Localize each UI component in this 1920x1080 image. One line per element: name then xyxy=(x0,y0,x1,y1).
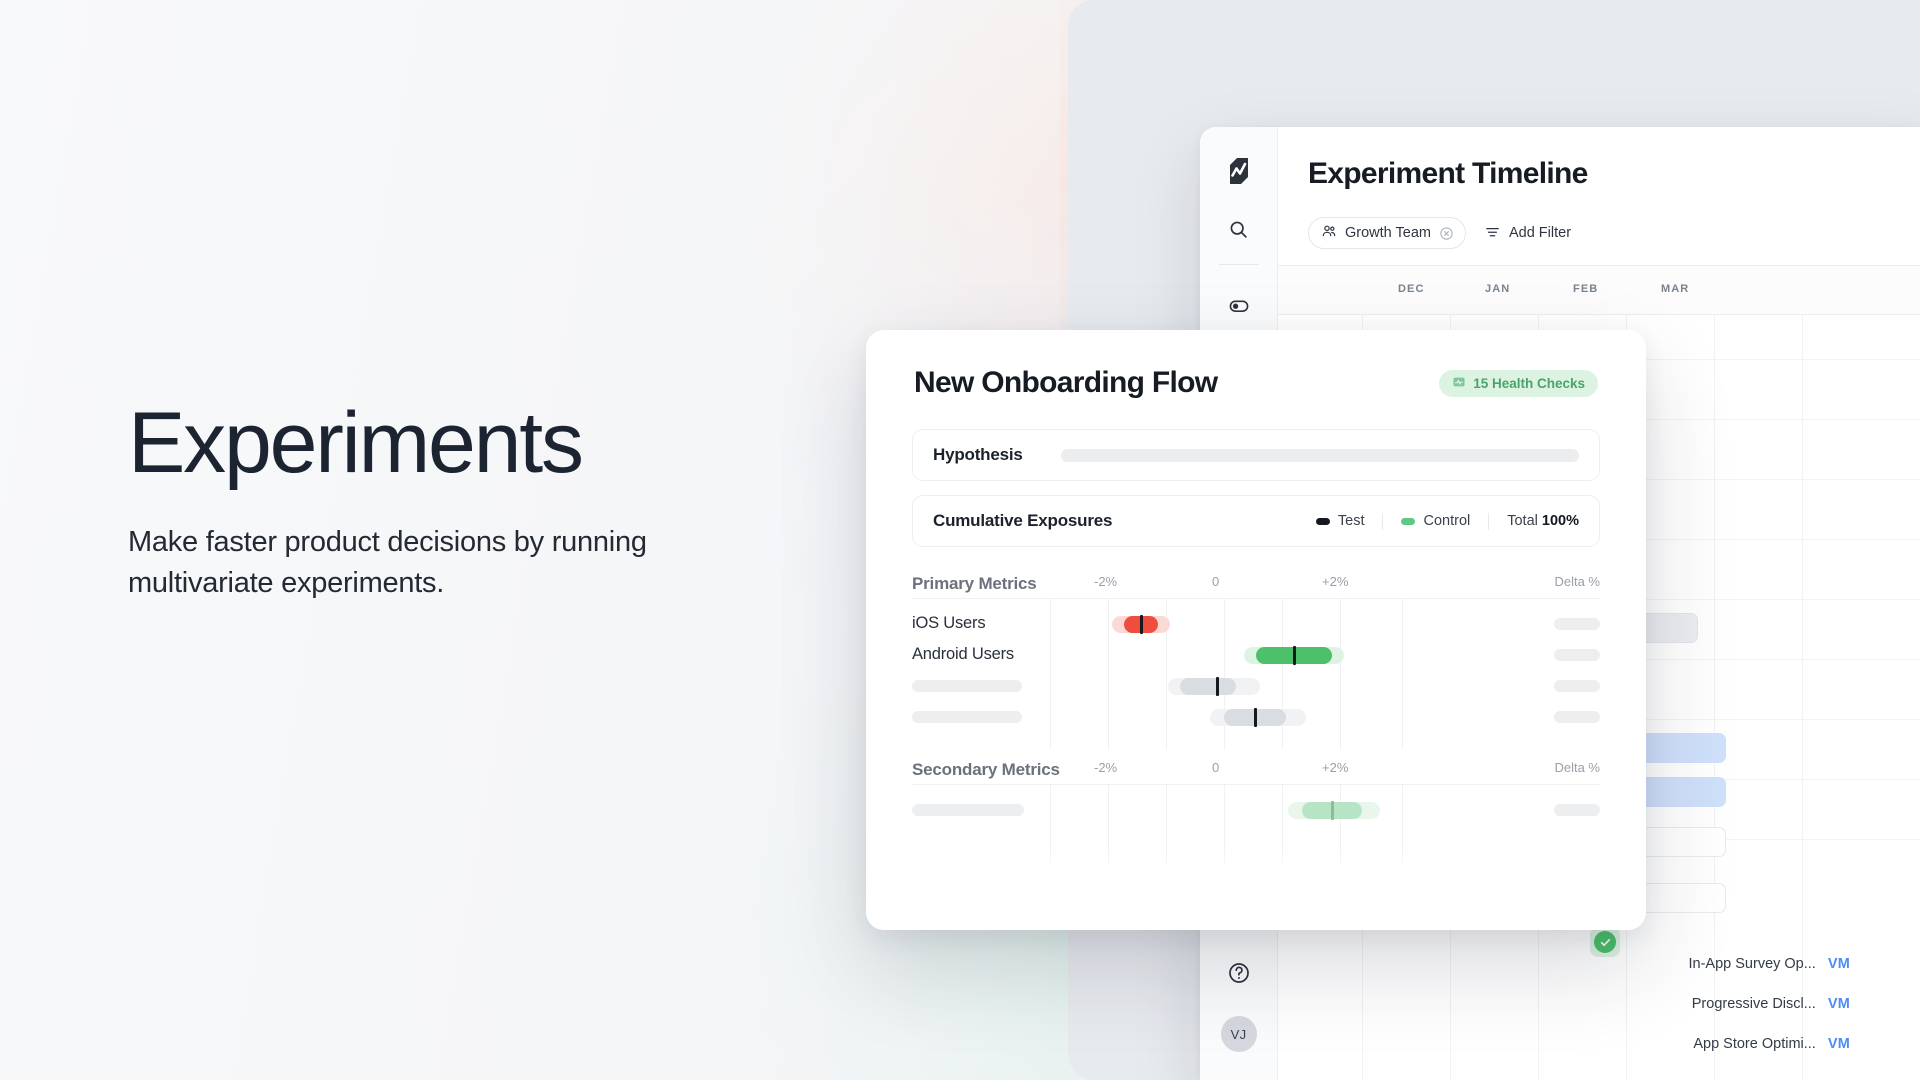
metric-ci-bar xyxy=(1302,802,1362,819)
metric-label-placeholder xyxy=(912,711,1022,723)
avatar: VM xyxy=(1828,1036,1850,1052)
metric-delta-placeholder xyxy=(1554,618,1600,630)
metric-point-tick xyxy=(1140,615,1143,634)
add-filter-label: Add Filter xyxy=(1509,225,1571,241)
check-circle-icon xyxy=(1594,931,1616,953)
timeline-month: JAN xyxy=(1485,283,1510,295)
timeline-bar[interactable] xyxy=(1590,927,1620,957)
sidebar-divider xyxy=(1219,264,1259,265)
close-circle-icon[interactable] xyxy=(1439,226,1454,241)
metric-delta-placeholder xyxy=(1554,649,1600,661)
avatar: VM xyxy=(1828,956,1850,972)
list-item[interactable]: In-App Survey Op... VM xyxy=(1640,944,1920,984)
avatar[interactable]: VJ xyxy=(1221,1016,1257,1052)
legend-label-control: Control xyxy=(1423,513,1470,529)
metric-ci-bar xyxy=(1180,678,1236,695)
legend-item-test: Test xyxy=(1298,513,1383,529)
secondary-metrics-title: Secondary Metrics xyxy=(912,760,1060,780)
filter-chip-label: Growth Team xyxy=(1345,225,1431,241)
list-item-label: In-App Survey Op... xyxy=(1689,956,1816,972)
list-item-label: Progressive Discl... xyxy=(1692,996,1816,1012)
metric-row[interactable] xyxy=(912,698,1600,736)
legend-label-test: Test xyxy=(1338,513,1365,529)
metric-point-tick xyxy=(1254,708,1257,727)
filter-bar: Growth Team Add Filter xyxy=(1308,217,1571,249)
exposures-label: Cumulative Exposures xyxy=(933,511,1112,531)
metric-delta-placeholder xyxy=(1554,711,1600,723)
add-filter-button[interactable]: Add Filter xyxy=(1484,223,1571,244)
list-item-label: App Store Optimi... xyxy=(1693,1036,1816,1052)
metric-delta-placeholder xyxy=(1554,804,1600,816)
exposures-total-value: 100% xyxy=(1542,513,1579,529)
avatar: VM xyxy=(1828,996,1850,1012)
primary-metrics-header: Primary Metrics -2% 0 +2% Delta % xyxy=(912,574,1600,594)
search-icon[interactable] xyxy=(1220,210,1258,248)
metric-point-tick xyxy=(1216,677,1219,696)
axis-tick-pos2: +2% xyxy=(1322,760,1348,775)
toggle-icon[interactable] xyxy=(1220,287,1258,325)
hypothesis-label: Hypothesis xyxy=(933,445,1023,465)
hypothesis-value-placeholder xyxy=(1061,449,1579,462)
timeline-month: MAR xyxy=(1661,283,1689,295)
timeline-month: DEC xyxy=(1398,283,1425,295)
secondary-metrics-header: Secondary Metrics -2% 0 +2% Delta % xyxy=(912,760,1600,780)
metric-label-placeholder xyxy=(912,680,1022,692)
timeline-month: FEB xyxy=(1573,283,1598,295)
metric-row[interactable] xyxy=(912,791,1600,829)
metric-ci-bar xyxy=(1124,616,1158,633)
card-header: New Onboarding Flow 15 Health Checks xyxy=(914,366,1598,400)
screenshot-root: Experiments Make faster product decision… xyxy=(0,0,1920,1080)
axis-tick-neg2: -2% xyxy=(1094,760,1117,775)
list-item[interactable]: App Store Optimi... VM xyxy=(1640,1024,1920,1064)
experiment-detail-card: New Onboarding Flow 15 Health Checks Hyp… xyxy=(866,330,1646,930)
secondary-metrics-plot xyxy=(912,784,1600,864)
legend-item-control: Control xyxy=(1383,513,1488,529)
filter-chip-growth-team[interactable]: Growth Team xyxy=(1308,217,1466,249)
legend-swatch-control xyxy=(1401,518,1415,525)
metric-label: iOS Users xyxy=(912,614,985,633)
exposures-legend: Test Control Total 100% xyxy=(1298,513,1579,530)
legend-swatch-test xyxy=(1316,518,1330,525)
metric-ci-bar xyxy=(1256,647,1332,664)
metric-point-tick xyxy=(1293,646,1296,665)
activity-logo-icon[interactable] xyxy=(1222,154,1256,188)
sidebar-bottom: VJ xyxy=(1220,932,1258,1052)
status-badge[interactable]: 15 Health Checks xyxy=(1439,370,1598,397)
axis-tick-neg2: -2% xyxy=(1094,574,1117,589)
card-title: New Onboarding Flow xyxy=(914,366,1217,400)
app-page-title: Experiment Timeline xyxy=(1308,157,1588,191)
metric-point-tick xyxy=(1331,801,1334,820)
filter-lines-icon xyxy=(1484,223,1501,244)
hypothesis-row[interactable]: Hypothesis xyxy=(912,429,1600,481)
primary-metrics-plot: iOS Users Android Users xyxy=(912,598,1600,750)
users-icon xyxy=(1321,223,1337,243)
metric-ci-bar xyxy=(1224,709,1286,726)
axis-tick-zero: 0 xyxy=(1212,574,1219,589)
axis-tick-zero: 0 xyxy=(1212,760,1219,775)
metric-delta-placeholder xyxy=(1554,680,1600,692)
exposures-total: Total 100% xyxy=(1489,513,1579,529)
activity-pulse-icon xyxy=(1452,375,1466,392)
exposures-total-label: Total xyxy=(1507,513,1538,529)
page-subtitle: Make faster product decisions by running… xyxy=(128,522,728,604)
axis-tick-pos2: +2% xyxy=(1322,574,1348,589)
primary-metrics-title: Primary Metrics xyxy=(912,574,1037,594)
cumulative-exposures-row[interactable]: Cumulative Exposures Test Control Total … xyxy=(912,495,1600,547)
help-circle-icon[interactable] xyxy=(1220,954,1258,992)
delta-column-header: Delta % xyxy=(1554,574,1600,589)
timeline-header: DEC JAN FEB MAR xyxy=(1278,265,1920,315)
page-title: Experiments xyxy=(128,400,828,488)
delta-column-header: Delta % xyxy=(1554,760,1600,775)
hero-section: Experiments Make faster product decision… xyxy=(128,400,828,604)
list-item[interactable]: Progressive Discl... VM xyxy=(1640,984,1920,1024)
timeline-list: In-App Survey Op... VM Progressive Discl… xyxy=(1640,944,1920,1064)
metric-label-placeholder xyxy=(912,804,1024,816)
metric-label: Android Users xyxy=(912,645,1014,664)
status-badge-label: 15 Health Checks xyxy=(1473,376,1585,391)
